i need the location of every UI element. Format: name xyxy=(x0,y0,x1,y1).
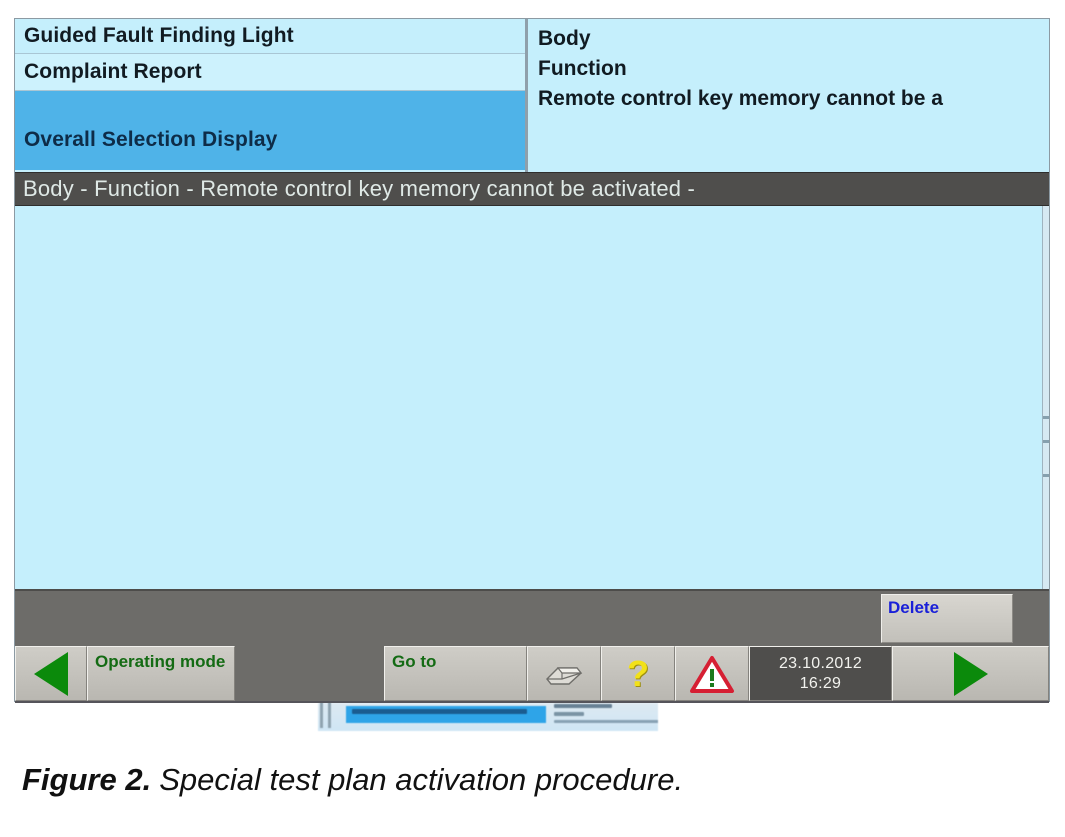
nav-row-label: Overall Selection Display xyxy=(24,128,277,152)
operating-mode-label: Operating mode xyxy=(88,652,225,672)
navigation-path-panel: Guided Fault Finding Light Complaint Rep… xyxy=(15,19,528,172)
operating-mode-button[interactable]: Operating mode xyxy=(87,646,235,701)
background-fragment-tick xyxy=(328,702,331,728)
eraser-button[interactable] xyxy=(527,646,601,701)
background-fragment-text xyxy=(554,720,658,723)
nav-row-overall-selection-display[interactable]: Overall Selection Display xyxy=(15,91,525,170)
help-button[interactable]: ? xyxy=(601,646,675,701)
question-mark-icon: ? xyxy=(627,656,649,692)
window-bottom-edge xyxy=(15,701,1049,703)
time-text: 16:29 xyxy=(800,674,842,694)
fault-description-line-body: Body xyxy=(538,24,1049,54)
background-fragment-text xyxy=(554,712,584,716)
toolbar-spacer xyxy=(235,646,384,701)
scrollbar-notch xyxy=(1043,440,1049,443)
screenshot-figure: Guided Fault Finding Light Complaint Rep… xyxy=(0,0,1065,730)
forward-button[interactable] xyxy=(892,646,1049,701)
fault-description-line-symptom: Remote control key memory cannot be a xyxy=(538,84,1049,114)
warning-button[interactable] xyxy=(675,646,749,701)
delete-button-label: Delete xyxy=(888,598,939,617)
nav-row-label: Complaint Report xyxy=(24,60,202,84)
scrollbar-notch xyxy=(1043,416,1049,419)
nav-row-complaint-report[interactable]: Complaint Report xyxy=(15,54,525,91)
date-text: 23.10.2012 xyxy=(779,654,862,674)
figure-caption-label: Figure 2. xyxy=(22,762,151,797)
eraser-icon xyxy=(543,660,585,688)
background-fragment-text xyxy=(554,704,612,708)
fault-description-panel: Body Function Remote control key memory … xyxy=(528,19,1049,172)
fault-description-line-function: Function xyxy=(538,54,1049,84)
toolbar-lower: Operating mode Go to ? xyxy=(15,646,1049,701)
back-button[interactable] xyxy=(15,646,87,701)
arrow-right-icon xyxy=(954,652,988,696)
delete-button[interactable]: Delete xyxy=(881,594,1013,643)
datetime-display: 23.10.2012 16:29 xyxy=(749,646,892,701)
test-plan-content-area[interactable] xyxy=(15,206,1049,589)
warning-triangle-icon xyxy=(689,654,735,694)
scrollbar-notch xyxy=(1043,474,1049,477)
figure-caption: Figure 2.Special test plan activation pr… xyxy=(22,762,1022,798)
nav-row-guided-fault-finding-light[interactable]: Guided Fault Finding Light xyxy=(15,19,525,54)
go-to-button[interactable]: Go to xyxy=(384,646,527,701)
arrow-left-icon xyxy=(34,652,68,696)
background-fragment-tick xyxy=(320,702,323,728)
content-scrollbar[interactable] xyxy=(1042,206,1049,589)
background-fragment-text xyxy=(352,709,527,714)
breadcrumb-text: Body - Function - Remote control key mem… xyxy=(23,176,695,202)
figure-caption-text: Special test plan activation procedure. xyxy=(159,762,683,797)
toolbar-upper: Delete xyxy=(15,589,1049,646)
breadcrumb: Body - Function - Remote control key mem… xyxy=(15,172,1049,206)
header-panels: Guided Fault Finding Light Complaint Rep… xyxy=(15,19,1049,172)
nav-row-label: Guided Fault Finding Light xyxy=(24,24,294,48)
go-to-label: Go to xyxy=(385,652,436,672)
diagnostic-tester-window: Guided Fault Finding Light Complaint Rep… xyxy=(14,18,1050,702)
